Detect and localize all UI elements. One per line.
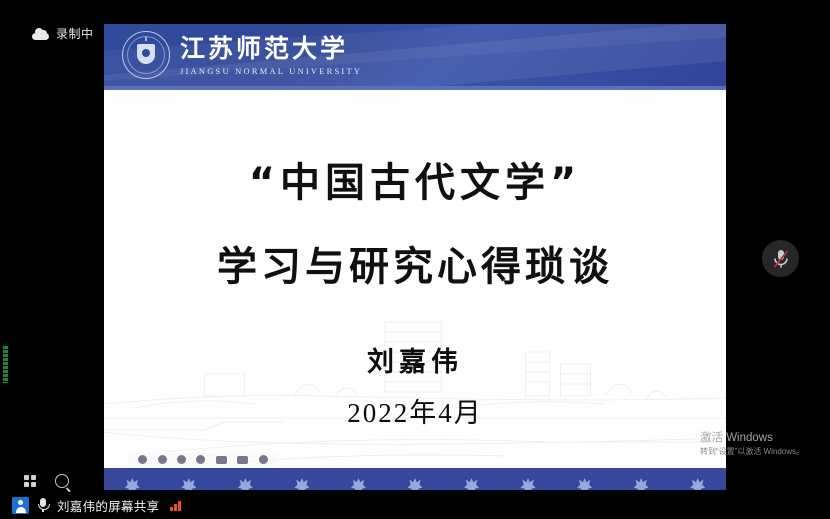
microphone-muted-icon — [771, 248, 791, 270]
lotus-icon — [669, 472, 726, 490]
university-crest-icon — [122, 31, 170, 79]
lotus-icon — [161, 472, 218, 490]
lotus-icon — [613, 472, 670, 490]
signal-bars-icon — [170, 500, 181, 511]
university-name-cn: 江苏师范大学 — [180, 36, 362, 61]
shared-slide: 江苏师范大学 JIANGSU NORMAL UNIVERSITY — [104, 24, 726, 490]
recording-label: 录制中 — [56, 25, 94, 42]
system-icon-row — [24, 474, 69, 488]
pen-icon[interactable] — [177, 455, 186, 464]
lotus-icon — [387, 472, 444, 490]
lotus-icon — [443, 472, 500, 490]
slide-title-line-1: “中国古代文学” — [104, 150, 726, 208]
lotus-icon — [104, 472, 161, 490]
slide-author: 刘嘉伟 — [104, 340, 726, 379]
taskbar: 刘嘉伟的屏幕共享 — [0, 492, 830, 519]
more-options-icon[interactable] — [259, 455, 268, 464]
watermark-line-2: 转到“设置”以激活 Windows。 — [700, 447, 804, 457]
slide-footer-band — [104, 468, 726, 490]
cloud-icon — [32, 28, 49, 40]
watermark-line-1: 激活 Windows — [700, 431, 804, 445]
play-icon[interactable] — [158, 455, 167, 464]
slide-date: 2022年4月 — [104, 391, 726, 430]
screen-share-label: 刘嘉伟的屏幕共享 — [57, 496, 159, 515]
presentation-toolbar[interactable] — [128, 453, 278, 466]
person-avatar-icon[interactable] — [12, 497, 29, 514]
screen-share-viewport: 录制中 江苏师范大学 JIANGSU NORMAL UNIVERSITY — [0, 0, 830, 519]
audio-level-meter — [2, 343, 9, 385]
lotus-icon — [330, 472, 387, 490]
pointer-icon[interactable] — [196, 455, 205, 464]
lotus-icon — [556, 472, 613, 490]
lotus-motif-row — [104, 472, 726, 490]
rectangle-icon[interactable] — [216, 456, 227, 464]
lotus-icon — [217, 472, 274, 490]
audio-level-fill — [3, 346, 8, 383]
search-icon[interactable] — [55, 474, 69, 488]
slide-body: “中国古代文学” 学习与研究心得琐谈 刘嘉伟 2022年4月 — [104, 90, 726, 468]
lotus-icon — [500, 472, 557, 490]
notes-icon[interactable] — [237, 456, 248, 464]
microphone-icon[interactable] — [37, 498, 49, 513]
recording-indicator: 录制中 — [32, 25, 94, 42]
microphone-muted-button[interactable] — [762, 240, 799, 277]
slide-title-line-2: 学习与研究心得琐谈 — [104, 234, 726, 292]
windows-activation-watermark: 激活 Windows 转到“设置”以激活 Windows。 — [700, 431, 804, 458]
lotus-icon — [274, 472, 331, 490]
apps-grid-icon[interactable] — [24, 475, 36, 487]
university-name-block: 江苏师范大学 JIANGSU NORMAL UNIVERSITY — [180, 36, 362, 76]
university-name-en: JIANGSU NORMAL UNIVERSITY — [180, 66, 362, 76]
chevron-left-icon[interactable] — [138, 455, 147, 464]
